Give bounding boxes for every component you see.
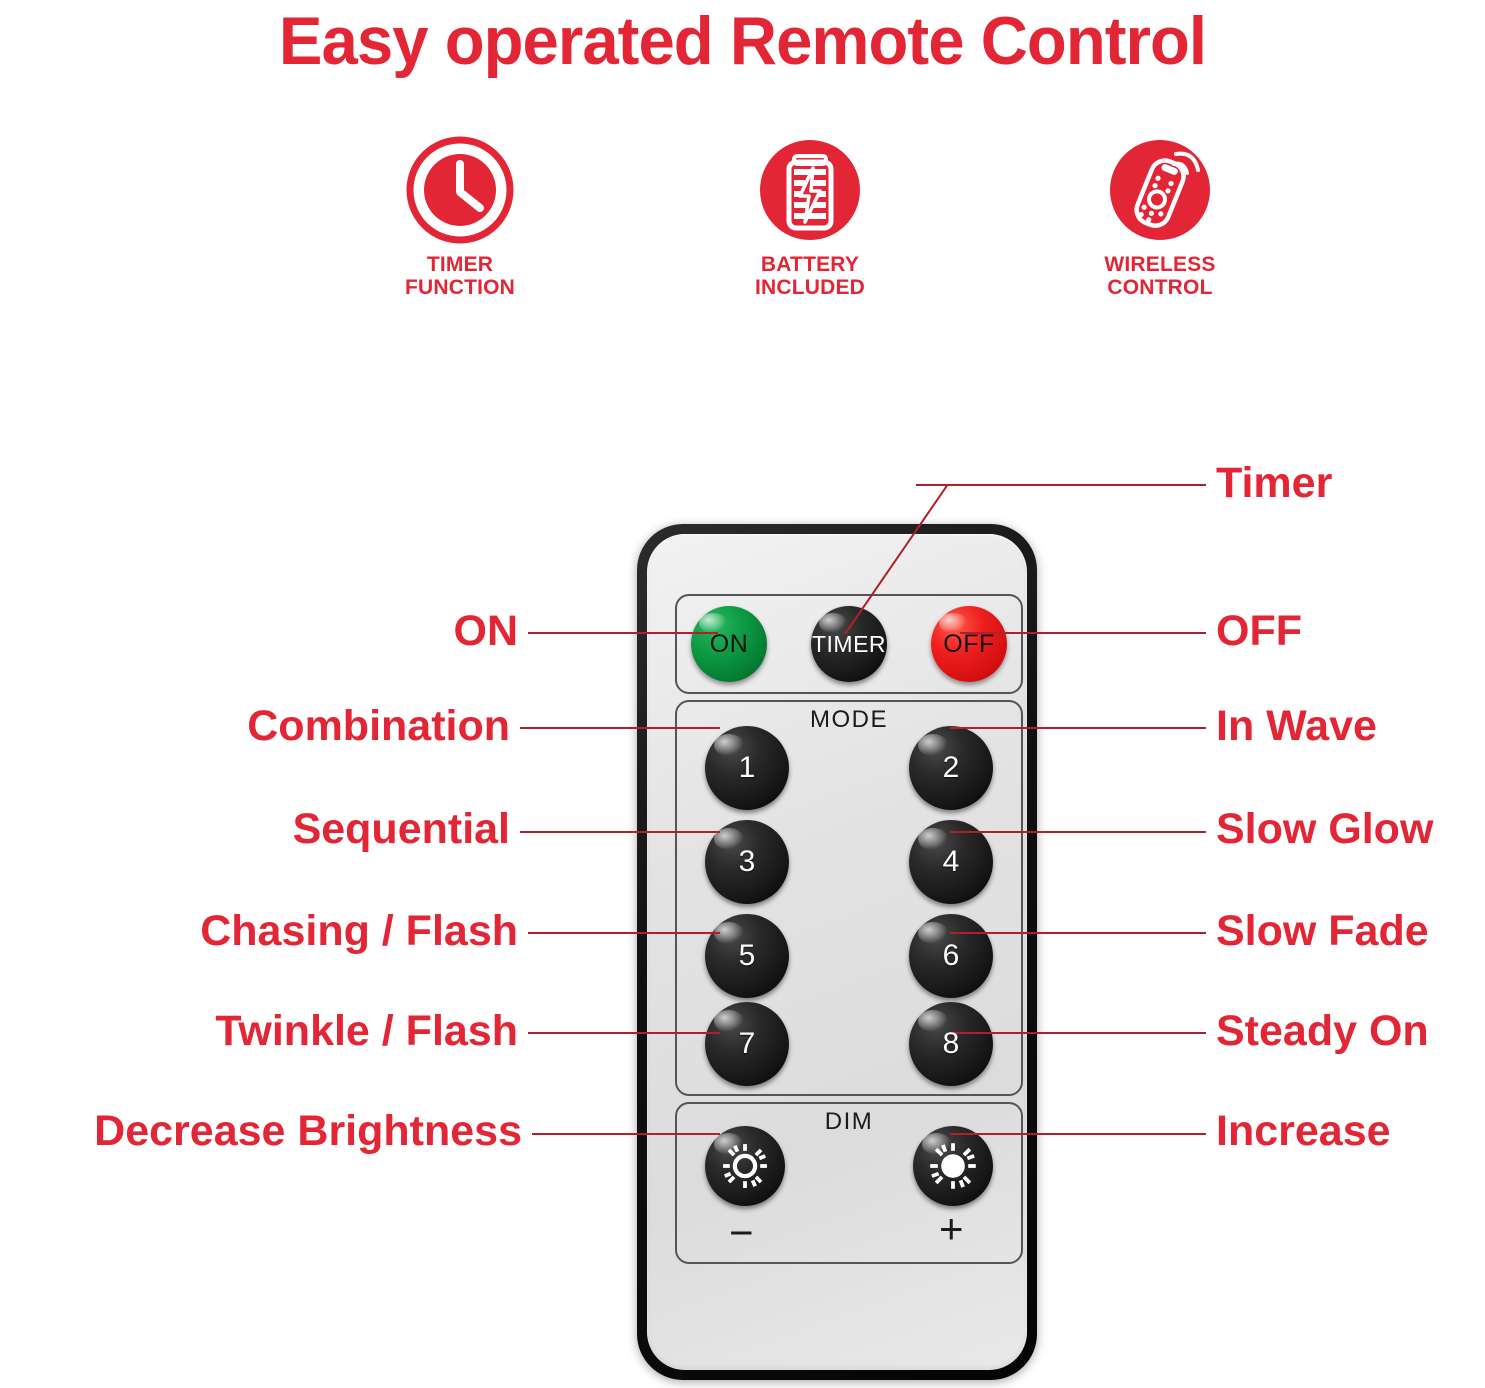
leader-twinkle-flash [528,1032,720,1034]
callout-sequential: Sequential [100,808,510,851]
mode-button-3-label: 3 [739,845,756,879]
callout-in-wave: In Wave [1216,705,1377,748]
mode-button-1-label: 1 [739,751,756,785]
leader-in-wave [950,727,1206,729]
remote-signal-icon [1106,136,1214,244]
decrease-symbol: − [729,1212,754,1254]
callout-combination: Combination [100,705,510,748]
feature-battery-label: BATTERY INCLUDED [755,254,865,299]
timer-button[interactable]: TIMER [811,606,887,682]
leader-on [528,632,718,634]
on-button[interactable]: ON [691,606,767,682]
callout-slow-glow: Slow Glow [1216,808,1433,851]
mode-button-8[interactable]: 8 [909,1002,993,1086]
mode-button-4-label: 4 [943,845,960,879]
leader-slow-glow [950,831,1206,833]
off-button-label: OFF [943,630,995,659]
decrease-brightness-button[interactable] [705,1126,785,1206]
leader-sequential [520,831,720,833]
increase-symbol: + [939,1208,964,1250]
callout-twinkle-flash: Twinkle / Flash [80,1010,518,1053]
leader-chasing-flash [528,932,720,934]
callout-timer: Timer [1216,462,1332,505]
clock-icon [406,136,514,244]
feature-timer: TIMER FUNCTION [310,136,610,326]
feature-battery: BATTERY INCLUDED [660,136,960,326]
leader-slow-fade [950,932,1206,934]
mode-button-7[interactable]: 7 [705,1002,789,1086]
timer-button-label: TIMER [812,631,886,658]
feature-wireless-label: WIRELESS CONTROL [1104,254,1215,299]
leader-decrease-brightness [532,1133,720,1135]
callout-off: OFF [1216,610,1302,653]
callout-slow-fade: Slow Fade [1216,910,1429,953]
mode-button-8-label: 8 [943,1027,960,1061]
mode-button-2-label: 2 [943,751,960,785]
mode-button-6[interactable]: 6 [909,914,993,998]
mode-button-1[interactable]: 1 [705,726,789,810]
callout-decrease-brightness: Decrease Brightness [6,1110,522,1153]
callout-steady-on: Steady On [1216,1010,1429,1053]
mode-button-6-label: 6 [943,939,960,973]
off-button[interactable]: OFF [931,606,1007,682]
mode-button-5[interactable]: 5 [705,914,789,998]
mode-button-5-label: 5 [739,939,756,973]
leader-steady-on [950,1032,1206,1034]
callout-increase: Increase [1216,1110,1391,1153]
leader-increase [950,1133,1206,1135]
brightness-low-icon [718,1139,772,1193]
callout-on: ON [300,610,518,653]
brightness-high-icon [926,1139,980,1193]
feature-wireless: WIRELESS CONTROL [1010,136,1310,326]
mode-button-group: MODE 1 2 3 4 [675,700,1023,1096]
mode-button-7-label: 7 [739,1027,756,1061]
mode-button-2[interactable]: 2 [909,726,993,810]
remote-faceplate: ON TIMER OFF MODE 1 [647,534,1027,1370]
page-title: Easy operated Remote Control [30,2,1456,80]
leader-combination [520,727,720,729]
feature-badges: TIMER FUNCTION BATTERY [310,136,1310,326]
leader-off [960,632,1206,634]
increase-brightness-button[interactable] [913,1126,993,1206]
infographic-page: Easy operated Remote Control TIMER FUNCT… [0,0,1485,1388]
callout-chasing-flash: Chasing / Flash [80,910,518,953]
power-button-group: ON TIMER OFF [675,594,1023,694]
on-button-label: ON [710,630,749,659]
leader-timer [916,484,1206,486]
dim-button-group: DIM [675,1102,1023,1264]
battery-icon [756,136,864,244]
remote-control: ON TIMER OFF MODE 1 [637,524,1037,1380]
feature-timer-label: TIMER FUNCTION [405,254,515,299]
